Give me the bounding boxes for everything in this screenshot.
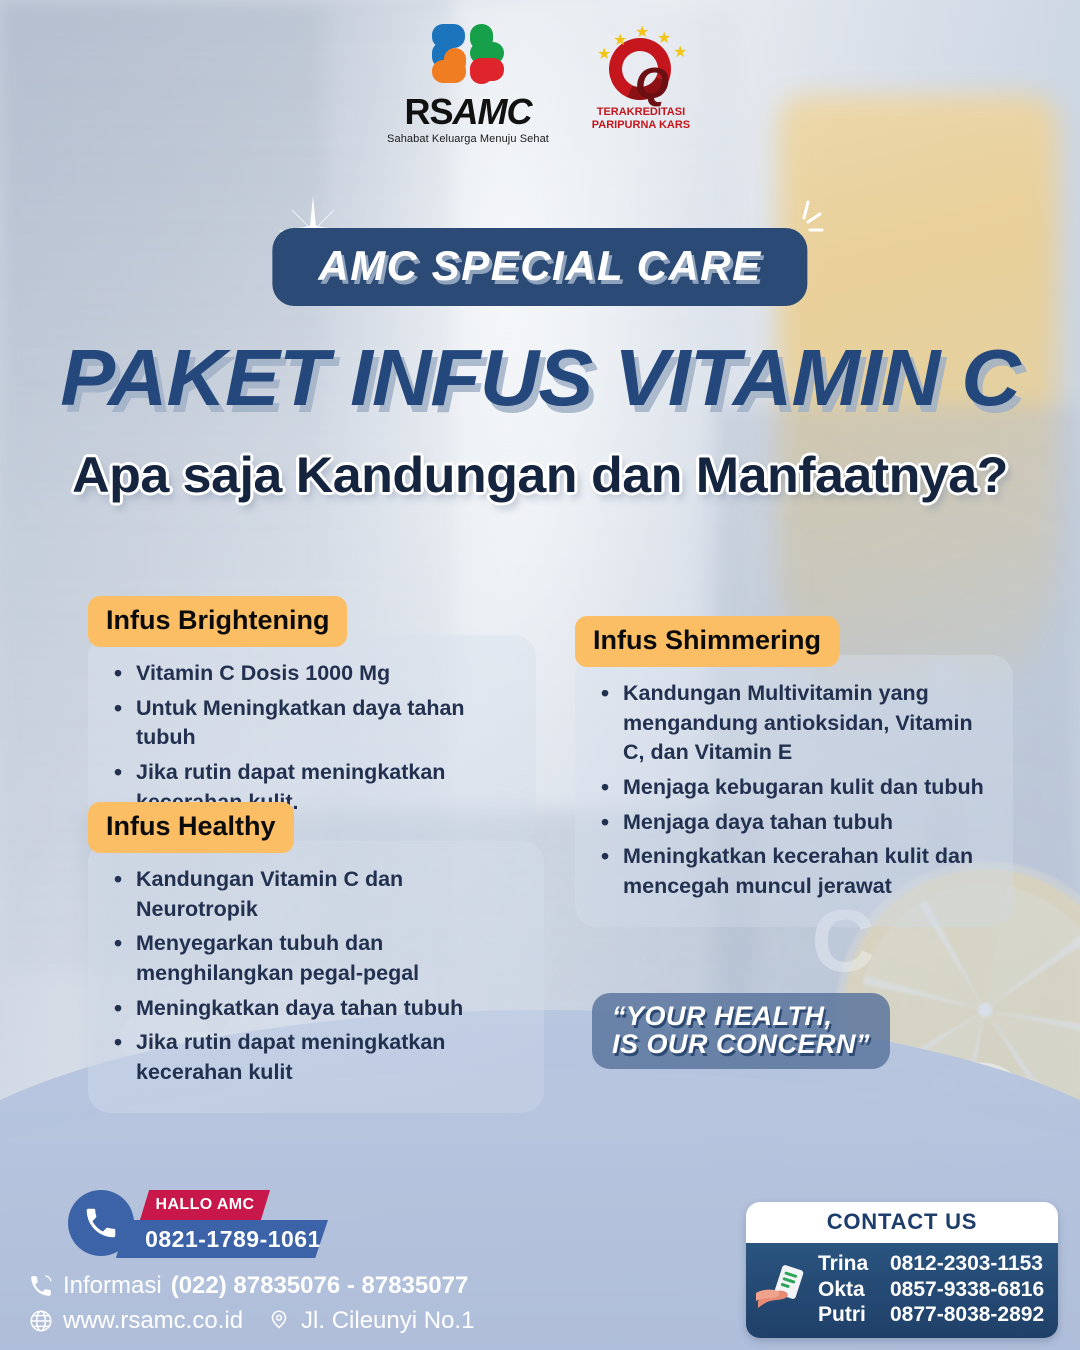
info-row-web-address: www.rsamc.co.id Jl. Cileunyi No.1 — [28, 1307, 474, 1335]
footer-info-lines: Informasi (022) 87835076 - 87835077 www.… — [28, 1272, 474, 1342]
list-shimmering: Kandungan Multivitamin yang mengandung a… — [597, 679, 993, 902]
card-body-shimmering: Kandungan Multivitamin yang mengandung a… — [575, 655, 1013, 927]
phone-circle — [68, 1190, 134, 1256]
globe-icon — [28, 1308, 54, 1334]
card-badge-healthy: Infus Healthy — [88, 802, 294, 853]
list-item: Menjaga daya tahan tubuh — [597, 808, 993, 838]
location-pin-icon — [266, 1308, 292, 1334]
contact-row: Putri 0877-8038-2892 — [818, 1302, 1044, 1328]
card-badge-shimmering: Infus Shimmering — [575, 616, 839, 667]
kars-seal-icon: Q ★ ★ ★ ★ ★ — [589, 22, 693, 104]
tagline-line-2: IS OUR CONCERN” — [612, 1030, 870, 1058]
hallo-amc-block[interactable]: HALLO AMC 0821-1789-1061 — [68, 1190, 328, 1262]
contact-phone[interactable]: 0857-9338-6816 — [890, 1277, 1044, 1303]
address-text: Jl. Cileunyi No.1 — [301, 1307, 474, 1335]
hallo-amc-label: HALLO AMC — [140, 1190, 270, 1220]
card-infus-healthy: Infus Healthy Kandungan Vitamin C dan Ne… — [88, 802, 544, 1113]
tagline-line-1: “YOUR HEALTH, — [612, 1002, 870, 1030]
rsamc-logo: RSAMC Sahabat Keluarga Menuju Sehat — [387, 18, 549, 145]
list-item: Meningkatkan kecerahan kulit dan mencega… — [597, 842, 993, 901]
info-number: (022) 87835076 - 87835077 — [171, 1272, 469, 1300]
contact-phone[interactable]: 0877-8038-2892 — [890, 1302, 1044, 1328]
page-subtitle: Apa saja Kandungan dan Manfaatnya? — [0, 450, 1080, 500]
phone-icon — [82, 1204, 120, 1242]
poster-canvas: RS C C RSAMC Sahabat Keluarga Menuju Seh… — [0, 0, 1080, 1350]
list-item: Vitamin C Dosis 1000 Mg — [110, 659, 516, 689]
contact-name: Putri — [818, 1302, 876, 1328]
kars-accreditation-text: TERAKREDITASI PARIPURNA KARS — [592, 106, 690, 131]
list-healthy: Kandungan Vitamin C dan Neurotropik Meny… — [110, 865, 524, 1088]
contact-us-body: Trina 0812-2303-1153 Okta 0857-9338-6816… — [746, 1243, 1058, 1338]
contact-us-box: CONTACT US Trina 0812-2303-1153 Okta 085… — [746, 1202, 1058, 1338]
list-item: Menjaga kebugaran kulit dan tubuh — [597, 773, 993, 803]
list-item: Untuk Meningkatkan daya tahan tubuh — [110, 694, 516, 753]
contact-phone[interactable]: 0812-2303-1153 — [890, 1251, 1043, 1277]
kars-q-letter: Q — [635, 62, 669, 106]
contact-row: Okta 0857-9338-6816 — [818, 1277, 1044, 1303]
kars-accreditation-logo: Q ★ ★ ★ ★ ★ TERAKREDITASI PARIPURNA KARS — [589, 18, 693, 131]
page-title: PAKET INFUS VITAMIN C — [0, 338, 1080, 418]
contact-row: Trina 0812-2303-1153 — [818, 1251, 1044, 1277]
list-item: Menyegarkan tubuh dan menghilangkan pega… — [110, 929, 524, 988]
contact-people-list: Trina 0812-2303-1153 Okta 0857-9338-6816… — [818, 1251, 1044, 1328]
list-item: Kandungan Vitamin C dan Neurotropik — [110, 865, 524, 924]
card-infus-shimmering: Infus Shimmering Kandungan Multivitamin … — [575, 616, 1013, 927]
info-label: Informasi — [63, 1272, 162, 1300]
header-logos: RSAMC Sahabat Keluarga Menuju Sehat Q ★ … — [0, 18, 1080, 145]
list-item: Jika rutin dapat meningkatkan kecerahan … — [110, 1028, 524, 1087]
contact-name: Trina — [818, 1251, 876, 1277]
kars-line-2: PARIPURNA KARS — [592, 119, 690, 132]
list-item: Meningkatkan daya tahan tubuh — [110, 994, 524, 1024]
card-body-healthy: Kandungan Vitamin C dan Neurotropik Meny… — [88, 841, 544, 1113]
rsamc-tagline: Sahabat Keluarga Menuju Sehat — [387, 133, 549, 145]
list-item: Kandungan Multivitamin yang mengandung a… — [597, 679, 993, 768]
rsamc-cross-icon — [426, 18, 510, 90]
contact-us-title: CONTACT US — [746, 1202, 1058, 1243]
phone-ring-icon — [28, 1273, 54, 1299]
list-brightening: Vitamin C Dosis 1000 Mg Untuk Meningkatk… — [110, 659, 516, 817]
rsamc-wordmark: RSAMC — [405, 94, 532, 130]
special-care-badge: AMC SPECIAL CARE — [272, 228, 807, 306]
contact-name: Okta — [818, 1277, 876, 1303]
rsamc-amc-text: AMC — [453, 91, 532, 132]
hand-phone-icon — [754, 1263, 810, 1315]
hallo-amc-number[interactable]: 0821-1789-1061 — [116, 1220, 328, 1258]
info-row-phone: Informasi (022) 87835076 - 87835077 — [28, 1272, 474, 1300]
card-badge-brightening: Infus Brightening — [88, 596, 347, 647]
tagline-quote: “YOUR HEALTH, IS OUR CONCERN” — [592, 993, 890, 1069]
website-text[interactable]: www.rsamc.co.id — [63, 1307, 243, 1335]
rsamc-rs-text: RS — [405, 91, 453, 132]
